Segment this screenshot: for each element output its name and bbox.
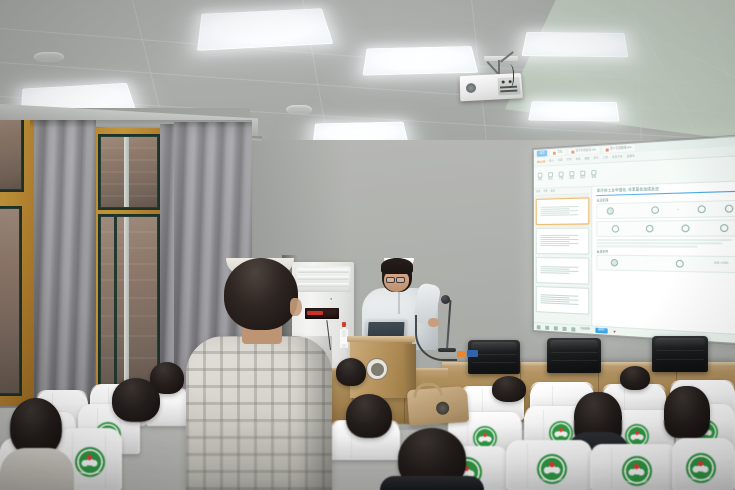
presenter-hair: [381, 258, 413, 274]
chair-cover-emblem: [75, 447, 105, 477]
ceiling-projector: [440, 56, 536, 106]
ribbon-tab-6[interactable]: 章节: [593, 157, 598, 160]
benzene-ring-icon: [720, 225, 728, 233]
sidebar-thumbnail-0[interactable]: [536, 197, 590, 225]
reaction-arrow: →: [646, 262, 649, 265]
panel-chair-2[interactable]: [547, 338, 601, 373]
foreground-ear: [290, 298, 302, 316]
audience-head: [336, 358, 366, 386]
ceiling-light-5: [521, 32, 628, 57]
audience-shoulders: [0, 448, 74, 490]
window-left-glass-lower: [0, 209, 19, 393]
screen-tab-1[interactable]: 文档: [550, 149, 565, 156]
audience-head: [664, 386, 710, 438]
microphone-head: [441, 295, 450, 304]
audience-head: [346, 394, 392, 438]
presenter-glasses-left: [386, 277, 395, 283]
sidebar-thumbnail-3[interactable]: [536, 286, 590, 315]
ribbon-tab-2[interactable]: 页面: [558, 159, 563, 162]
benzene-ring-icon: [651, 207, 659, 215]
audience-head: [620, 366, 650, 390]
ribbon-tab-5[interactable]: 视图: [584, 158, 589, 161]
status-label: 页面视图: [580, 328, 590, 331]
edit-mode-button[interactable]: 编辑中: [595, 328, 608, 334]
benzene-ring-icon: [682, 225, 690, 233]
screen-sidebar: 目录 书签 批注: [534, 187, 593, 326]
window-center-glass-upper: [101, 137, 157, 207]
heart-icon[interactable]: ♥: [613, 329, 615, 333]
air-vent-2: [286, 105, 312, 114]
benzene-ring-icon: [611, 259, 618, 267]
foreground-shirt-shading: [296, 336, 332, 490]
foreground-head: [224, 258, 298, 330]
plus-sign: +: [677, 209, 679, 212]
lecture-hall-photo: 首页 文档 化学有机反应.doc 讲义合成路线.doc 开始 插入 页面 引用 …: [0, 0, 735, 490]
benzene-ring-icon: [698, 206, 706, 214]
benzene-ring-icon: [607, 208, 614, 216]
screen-document-area[interactable]: 苯环的工业甲基化-邻苯基化加成反应 反应机理 → +: [593, 181, 735, 334]
toolbar-group-4[interactable]: 样式: [580, 171, 585, 180]
reaction-diagram-row-3: → CH3 + H2O: [597, 255, 735, 274]
projection-screen-content: 首页 文档 化学有机反应.doc 讲义合成路线.doc 开始 插入 页面 引用 …: [534, 136, 735, 344]
bag-buckle: [436, 401, 450, 415]
window-center-downpipe-lower: [124, 217, 129, 391]
ribbon-tab-1[interactable]: 插入: [549, 160, 554, 163]
panel-chair-1[interactable]: [468, 340, 520, 374]
foreground-attendee: [186, 258, 332, 490]
sidebar-tab-1[interactable]: 书签: [543, 191, 548, 194]
projector-lens: [466, 83, 476, 93]
audience-head: [112, 378, 160, 422]
water-bottle[interactable]: [340, 322, 348, 348]
audience-head: [492, 376, 526, 402]
list-item[interactable]: [590, 444, 678, 490]
screen-workspace: 目录 书签 批注: [534, 181, 735, 334]
desk-object-orange: [457, 351, 466, 357]
sidebar-thumbnail-2[interactable]: [536, 257, 590, 285]
panel-chair-3[interactable]: [652, 336, 708, 372]
list-item[interactable]: [672, 438, 735, 490]
window-center-glass-lower: [101, 217, 157, 391]
ceiling-light-6: [528, 101, 619, 121]
window-left-glass-upper: [0, 120, 21, 189]
benzene-ring-icon: [611, 226, 618, 233]
list-item[interactable]: [506, 440, 592, 490]
audience-shoulders: [380, 476, 484, 490]
ribbon-tab-9[interactable]: 云服务: [627, 155, 635, 158]
zoom-icon[interactable]: [554, 326, 558, 330]
projector-cable: [502, 64, 514, 88]
projection-screen[interactable]: 首页 文档 化学有机反应.doc 讲义合成路线.doc 开始 插入 页面 引用 …: [534, 136, 735, 344]
desk-object-blue: [467, 350, 478, 357]
document-title: 苯环的工业甲基化-邻苯基化加成反应: [597, 185, 735, 196]
formula-text: CH3 + H2O: [714, 263, 728, 266]
sidebar-thumbnail-1[interactable]: [536, 227, 590, 254]
curtain-left[interactable]: [34, 120, 96, 410]
ribbon-tab-7[interactable]: 工具: [603, 157, 608, 160]
projector-arm-2: [487, 61, 499, 74]
benzene-ring-icon: [676, 260, 684, 268]
tan-shoulder-bag[interactable]: [407, 386, 469, 426]
outline-icon[interactable]: [545, 325, 549, 329]
screen-tab-0[interactable]: 首页: [537, 150, 548, 157]
document-note-lines: [597, 239, 735, 247]
toolbar-group-2[interactable]: 字体: [559, 172, 564, 181]
toolbar-group-5[interactable]: 查找: [591, 170, 596, 179]
ribbon-tab-0[interactable]: 开始: [537, 160, 546, 163]
ribbon-tab-8[interactable]: 会员专享: [612, 156, 622, 159]
page-icon[interactable]: [563, 326, 567, 330]
ribbon-tab-3[interactable]: 引用: [567, 159, 572, 162]
sidebar-tab-2[interactable]: 批注: [551, 190, 556, 193]
chair-cover-emblem: [622, 456, 652, 486]
ribbon-tab-4[interactable]: 审阅: [575, 158, 580, 161]
document-section-1: 反应条件: [597, 250, 735, 254]
chair-cover-emblem: [686, 453, 716, 483]
view-icon[interactable]: [537, 325, 541, 329]
window-center-mullion: [114, 214, 117, 394]
curtain-rod-shadow: [30, 120, 252, 128]
sidebar-tab-0[interactable]: 目录: [536, 191, 540, 194]
air-vent-1: [34, 52, 64, 62]
bottle-cap: [342, 322, 346, 327]
toolbar-group-0[interactable]: 粘贴: [538, 173, 543, 182]
podium-top-surface: [347, 336, 415, 342]
window-center-downpipe-upper: [124, 137, 129, 207]
grid-icon[interactable]: [571, 327, 575, 331]
ceiling-light-1: [197, 8, 333, 50]
sidebar-tabs: 目录 书签 批注: [536, 189, 590, 195]
microphone-base: [438, 348, 456, 352]
podium-institution-seal: [366, 358, 388, 380]
toolbar-group-1[interactable]: 格式: [548, 172, 553, 181]
benzene-ring-icon: [725, 205, 733, 213]
doc-icon: [605, 148, 608, 151]
presenter-glasses-right: [396, 277, 405, 283]
benzene-ring-icon: [646, 225, 654, 233]
doc-icon: [553, 151, 556, 154]
reaction-diagram-row-2: [597, 220, 735, 238]
toolbar-group-3[interactable]: 段落: [569, 171, 574, 180]
reaction-arrow: →: [631, 210, 633, 213]
doc-icon: [571, 150, 574, 153]
reaction-diagram-row-1: → +: [597, 200, 735, 219]
chair-cover-emblem: [537, 454, 567, 484]
